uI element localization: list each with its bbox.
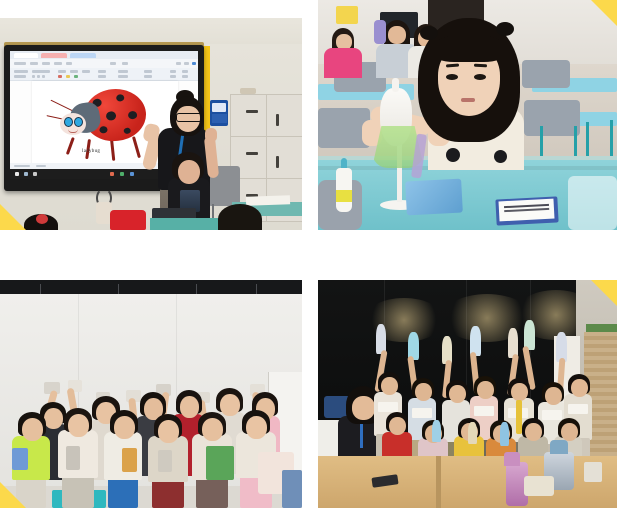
child-face xyxy=(477,381,494,399)
ladybug-leg xyxy=(132,136,141,158)
plastic-bag[interactable] xyxy=(568,176,617,230)
child-face xyxy=(246,416,267,439)
menu-item-icon[interactable] xyxy=(192,62,196,65)
ladybug-eye-left xyxy=(64,117,73,127)
ribbon-control[interactable] xyxy=(82,70,90,73)
photo-4-scene xyxy=(318,280,617,508)
craft-item xyxy=(66,446,80,470)
ribbon-control[interactable] xyxy=(144,70,152,73)
mannequin-neck xyxy=(392,78,399,92)
craft-figure xyxy=(500,422,509,446)
child-face xyxy=(158,420,179,443)
child-face xyxy=(220,394,240,416)
cabinet-top-box xyxy=(240,88,256,94)
child-face xyxy=(415,383,432,401)
status-text xyxy=(36,165,46,167)
safety-sign-pictogram xyxy=(212,103,226,112)
taskbar-app-icon[interactable] xyxy=(110,172,114,176)
photo-top-left[interactable]: ladybug xyxy=(0,18,302,230)
craft-figure xyxy=(432,420,441,442)
editor-tab-2[interactable] xyxy=(41,53,67,58)
classroom-upper-wall xyxy=(0,18,302,44)
child-face xyxy=(511,383,528,401)
girl-eye-right xyxy=(474,74,486,80)
glue-bottle-label xyxy=(336,190,352,202)
dress-polka-dot xyxy=(494,150,507,163)
teacher-glasses xyxy=(176,113,202,122)
menu-item-icon[interactable] xyxy=(54,62,62,65)
photo-top-right[interactable] xyxy=(318,0,617,230)
hair-bow-left xyxy=(420,26,438,40)
child-legs xyxy=(196,476,228,508)
editor-tab-3[interactable] xyxy=(70,53,96,58)
ribbon-underline-icon[interactable] xyxy=(42,75,45,78)
cabinet-handle-2[interactable] xyxy=(276,114,279,126)
ribbon-control[interactable] xyxy=(182,75,188,78)
child-face xyxy=(44,408,63,429)
ribbon-control[interactable] xyxy=(118,70,128,73)
corner-accent-triangle xyxy=(0,204,26,230)
ladybug-eye-right xyxy=(74,117,83,127)
photo-collage-page: ladybug xyxy=(0,0,623,521)
ribbon-control[interactable] xyxy=(182,70,188,73)
editor-tab-1[interactable] xyxy=(14,53,38,58)
menu-item-icon[interactable] xyxy=(42,62,50,65)
menu-item-icon[interactable] xyxy=(122,62,128,65)
child-face xyxy=(525,423,542,441)
foreground-child-hairclip xyxy=(36,214,48,224)
taskbar-app-icon[interactable] xyxy=(24,172,28,176)
corner-accent-triangle xyxy=(0,482,26,508)
table-seam xyxy=(436,456,441,508)
student-face xyxy=(178,160,200,184)
ladybug-spot xyxy=(128,111,138,120)
ladybug-leg xyxy=(110,139,115,161)
child-face xyxy=(389,417,406,435)
teacher-face xyxy=(352,396,375,420)
child-legs xyxy=(62,474,94,508)
photo-2-scene xyxy=(318,0,617,230)
foreground-teal-desk xyxy=(150,218,220,230)
name-tag xyxy=(542,410,562,420)
ribbon-color-icon[interactable] xyxy=(74,75,78,78)
name-tag xyxy=(412,408,432,418)
taskbar-app-icon[interactable] xyxy=(130,172,134,176)
girl-mouth xyxy=(461,98,475,102)
status-text xyxy=(14,165,30,167)
ribbon-italic-icon[interactable] xyxy=(37,75,40,78)
ladybug-spot xyxy=(99,126,108,134)
ribbon-control[interactable] xyxy=(170,75,176,78)
child-face xyxy=(180,396,199,418)
craft-item xyxy=(206,446,234,480)
cabinet-handle-3[interactable] xyxy=(246,152,258,155)
ladybug-leg xyxy=(66,137,75,155)
child-face xyxy=(545,387,562,405)
photo-bottom-left[interactable] xyxy=(0,280,302,508)
background-child-body-1 xyxy=(324,48,362,78)
craft-item xyxy=(158,450,172,472)
name-card xyxy=(499,199,555,222)
ribbon-control[interactable] xyxy=(170,70,176,73)
hair-bow-right xyxy=(496,22,514,36)
dress-polka-dot xyxy=(446,148,460,162)
menu-item-icon[interactable] xyxy=(30,62,38,65)
name-tag xyxy=(378,402,398,412)
menu-item-icon[interactable] xyxy=(66,62,72,65)
ribbon-control[interactable] xyxy=(98,70,106,73)
cabinet-door-2 xyxy=(266,94,302,138)
photo-bottom-right[interactable] xyxy=(318,280,617,508)
background-child-face-2 xyxy=(388,26,406,44)
child-face xyxy=(449,385,466,403)
child-legs xyxy=(108,476,138,508)
craft-item-on-table xyxy=(524,476,554,496)
ribbon-control[interactable] xyxy=(70,70,78,73)
ladybug-caption: ladybug xyxy=(82,149,100,154)
child-legs xyxy=(282,470,302,508)
craft-item xyxy=(12,448,28,470)
child-face xyxy=(114,416,135,439)
child-face xyxy=(22,418,43,441)
background-chair-3 xyxy=(524,100,580,136)
ladybug-spot xyxy=(106,111,117,121)
editor-tab-bar[interactable] xyxy=(10,51,198,59)
corner-accent-triangle xyxy=(591,0,617,26)
background-chair-2 xyxy=(522,60,570,88)
child-face xyxy=(381,377,398,395)
child-face xyxy=(571,379,588,397)
photo-1-scene: ladybug xyxy=(0,18,302,230)
girl-fringe xyxy=(432,34,506,62)
craft-item xyxy=(122,448,137,472)
name-tag xyxy=(568,404,588,414)
photo-3-scene xyxy=(0,280,302,508)
child-face xyxy=(202,418,223,441)
menu-item-icon[interactable] xyxy=(110,62,116,65)
taskbar-app-icon[interactable] xyxy=(33,172,37,176)
red-stool xyxy=(110,210,146,230)
girl-eye-left xyxy=(446,74,458,80)
menu-item-icon[interactable] xyxy=(14,62,26,65)
cabinet-handle-1[interactable] xyxy=(246,110,258,113)
taskbar-app-icon[interactable] xyxy=(120,172,124,176)
bottle-cap xyxy=(550,440,568,454)
editor-ribbon-row[interactable] xyxy=(10,68,198,81)
ribbon-control[interactable] xyxy=(14,70,28,73)
ladybug-spot xyxy=(116,94,125,102)
safety-sign-text-block xyxy=(212,114,227,123)
ribbon-bold-icon[interactable] xyxy=(32,75,35,78)
bottle-cap xyxy=(504,452,520,466)
menu-item-icon[interactable] xyxy=(184,62,189,65)
wall-poster xyxy=(336,6,358,24)
ribbon-align-icon[interactable] xyxy=(98,75,106,78)
craft-figure xyxy=(468,422,477,444)
background-object xyxy=(374,20,386,44)
ribbon-control[interactable] xyxy=(14,75,26,78)
ribbon-control[interactable] xyxy=(144,75,152,78)
name-tag xyxy=(474,406,494,416)
cabinet-door-4 xyxy=(266,136,302,180)
blue-cloth[interactable] xyxy=(405,179,463,216)
ribbon-font-name[interactable] xyxy=(32,70,50,73)
ribbon-control[interactable] xyxy=(58,70,66,73)
ladybug-spot xyxy=(123,127,131,134)
child-face xyxy=(68,414,89,437)
child-face xyxy=(561,423,578,441)
child-legs xyxy=(152,478,184,508)
student-raised-hand xyxy=(205,128,217,142)
cabinet-handle-4[interactable] xyxy=(276,156,279,168)
green-wall-strip xyxy=(586,324,617,332)
foreground-child-head-right xyxy=(218,204,262,230)
ribbon-highlight-icon[interactable] xyxy=(66,75,70,78)
menu-item-icon[interactable] xyxy=(176,62,181,65)
ribbon-color-icon[interactable] xyxy=(58,75,62,78)
cabinet-door-1 xyxy=(230,94,268,138)
paper-cup[interactable] xyxy=(584,462,602,482)
corner-accent-triangle xyxy=(591,280,617,306)
start-icon[interactable] xyxy=(15,172,19,176)
ribbon-control[interactable] xyxy=(118,75,128,78)
desk-papers xyxy=(246,195,290,206)
teacher-lanyard xyxy=(360,420,363,448)
